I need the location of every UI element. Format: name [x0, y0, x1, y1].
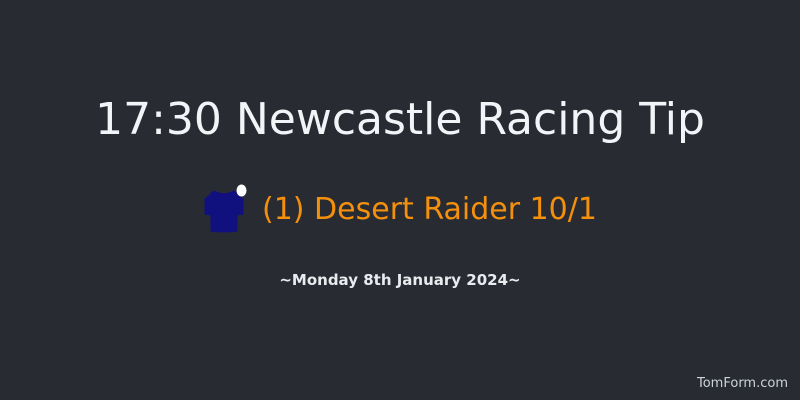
jockey-silk-icon: [203, 184, 249, 236]
selection-label: (1) Desert Raider 10/1: [262, 190, 597, 230]
race-date: ~Monday 8th January 2024~: [0, 270, 800, 290]
racing-tip-card: 17:30 Newcastle Racing Tip (1) Desert Ra…: [0, 0, 800, 400]
selection-row[interactable]: (1) Desert Raider 10/1: [0, 184, 800, 236]
page-title: 17:30 Newcastle Racing Tip: [0, 92, 800, 148]
site-watermark: TomForm.com: [697, 376, 788, 392]
